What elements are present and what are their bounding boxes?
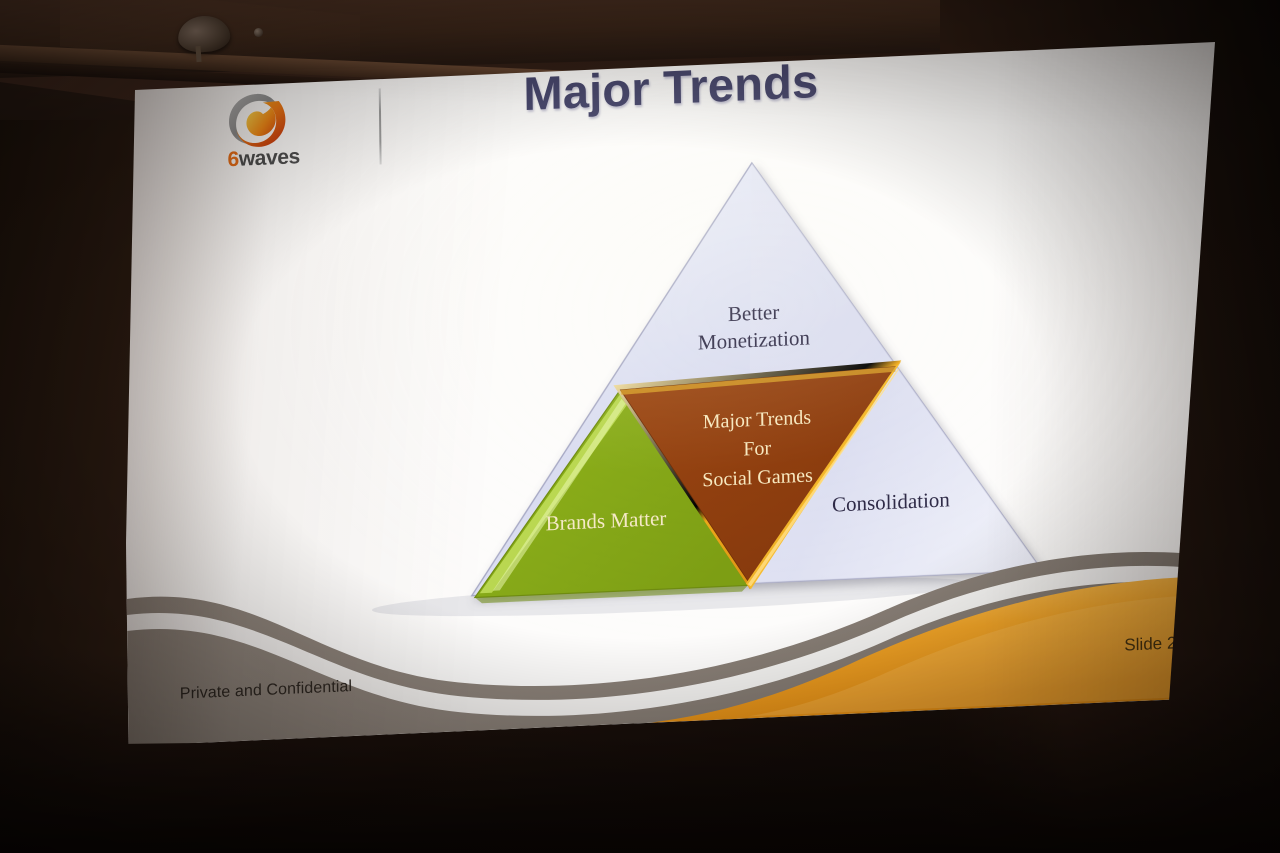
brand-logo-text: 6waves (227, 146, 300, 170)
brand-logo-prefix: 6 (227, 148, 239, 172)
brand-logo-suffix: waves (239, 145, 300, 171)
projected-slide-photo: 6waves Major Trends (0, 0, 1280, 853)
slide-footer: Private and Confidential Slide 25 (126, 532, 1228, 746)
pyramid-label-center-line2: For (743, 437, 771, 460)
projection-screen: 6waves Major Trends (0, 0, 1280, 853)
slide-surface: 6waves Major Trends (120, 0, 1228, 746)
pyramid-label-top-line1: Better (728, 300, 780, 326)
footer-slide-number: Slide 25 (1124, 633, 1186, 656)
pyramid-label-top-line2: Monetization (698, 325, 811, 354)
